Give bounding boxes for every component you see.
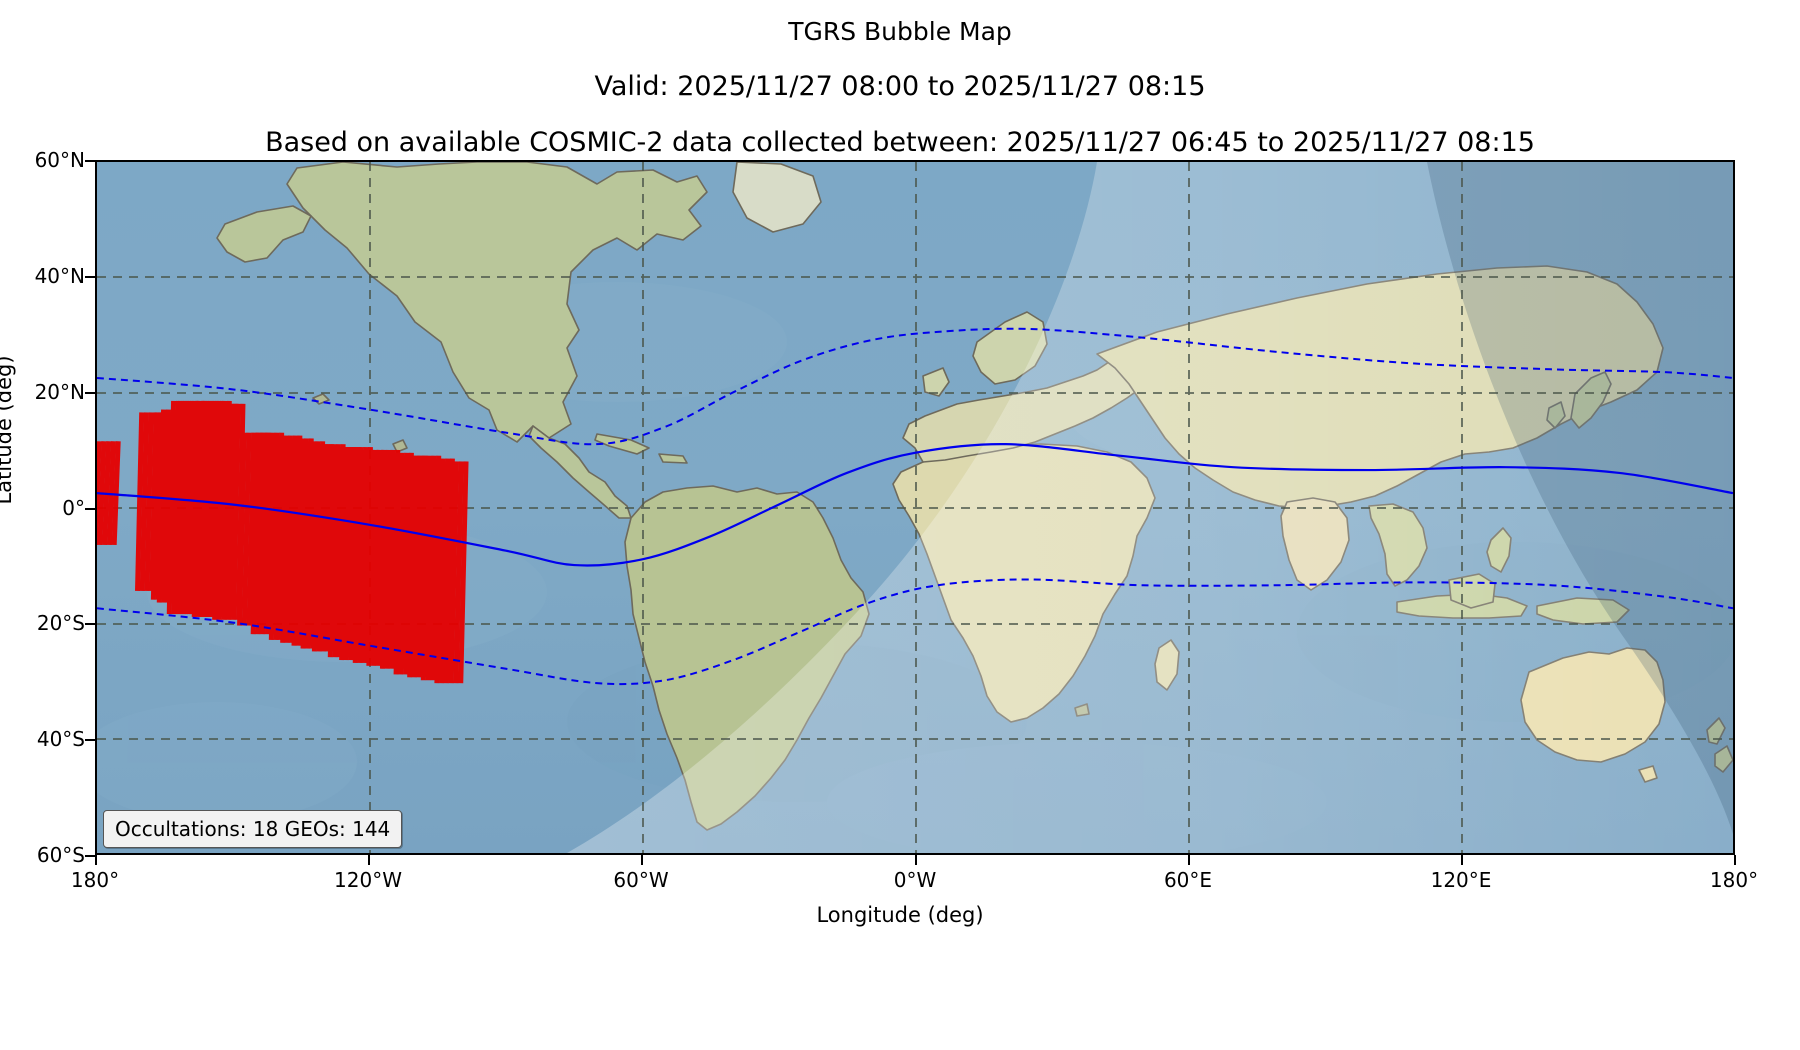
y-tick-labels: 60°N 40°N 20°N 0° 20°S 40°S 60°S — [0, 160, 85, 855]
x-tick-180E: 180° — [1710, 868, 1758, 892]
y-tickmark — [85, 276, 95, 278]
map-svg — [97, 162, 1733, 853]
valid-time-subtitle: Valid: 2025/11/27 08:00 to 2025/11/27 08… — [0, 71, 1800, 102]
x-tick-0: 0°W — [894, 868, 937, 892]
x-tick-labels: 180° 120°W 60°W 0°W 60°E 120°E 180° — [95, 858, 1735, 898]
figure-canvas: TGRS Bubble Map Valid: 2025/11/27 08:00 … — [0, 0, 1800, 1050]
data-source-subtitle: Based on available COSMIC-2 data collect… — [0, 127, 1800, 158]
y-tickmark — [85, 392, 95, 394]
x-tick-120W: 120°W — [334, 868, 402, 892]
counts-legend-text: Occultations: 18 GEOs: 144 — [115, 817, 390, 841]
y-tickmark — [85, 160, 95, 162]
counts-legend: Occultations: 18 GEOs: 144 — [103, 810, 402, 848]
y-tick-60N: 60°N — [0, 148, 85, 172]
y-tick-40N: 40°N — [0, 264, 85, 288]
x-axis-label: Longitude (deg) — [0, 903, 1800, 927]
page-title: TGRS Bubble Map — [0, 17, 1800, 46]
y-tick-0: 0° — [0, 496, 85, 520]
land-hispaniola — [659, 454, 687, 463]
x-tick-120E: 120°E — [1431, 868, 1492, 892]
x-tick-60W: 60°W — [613, 868, 668, 892]
x-tick-60E: 60°E — [1164, 868, 1212, 892]
map-plot-area[interactable]: Occultations: 18 GEOs: 144 — [95, 160, 1735, 855]
y-tick-20N: 20°N — [0, 380, 85, 404]
y-tick-20S: 20°S — [0, 611, 85, 635]
x-tick-180W: 180° — [71, 868, 119, 892]
y-tick-60S: 60°S — [0, 843, 85, 867]
y-tickmark — [85, 739, 95, 741]
y-tickmark — [85, 855, 95, 857]
y-tickmark — [85, 508, 95, 510]
y-tickmark — [85, 623, 95, 625]
y-tick-40S: 40°S — [0, 727, 85, 751]
